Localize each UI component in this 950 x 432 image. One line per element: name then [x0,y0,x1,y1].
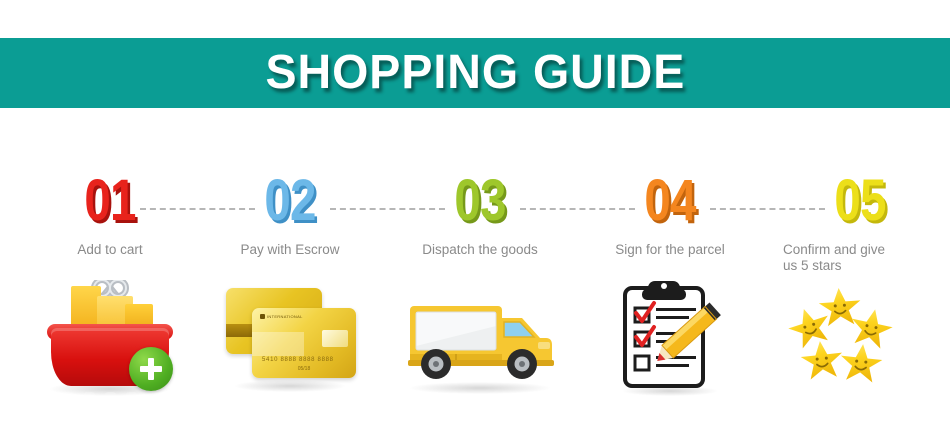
five-stars-svg [785,284,935,389]
step-5-label-line-1: Confirm and give [783,242,885,257]
header-band: SHOPPING GUIDE [0,38,950,108]
star-5 [839,342,884,383]
card-expiry: 05/18 [252,366,356,372]
step-5-label: Confirm and give us 5 stars [765,242,950,274]
step-1: 01 Add to cart [15,160,205,420]
star-2 [785,303,835,351]
step-2-number: 02 [212,172,368,230]
step-2: 02 Pay with Escrow INTERNATIONAL 5410 88… [195,160,385,420]
step-5-label-line-2: us 5 stars [783,258,842,273]
step-4-label: Sign for the parcel [575,242,765,258]
card-brand-text: INTERNATIONAL [267,314,303,319]
truck-svg [400,284,560,384]
shopping-guide-banner: SHOPPING GUIDE 01 Add to cart [0,0,950,432]
clipboard-svg [615,278,725,393]
step-3-number: 03 [402,172,558,230]
step-4: 04 Sign for the parcel [575,160,765,420]
step-3-label: Dispatch the goods [385,242,575,258]
card-number: 5410 8888 8888 8888 [262,357,356,363]
step-1-label: Add to cart [15,242,205,258]
step-2-label: Pay with Escrow [195,242,385,258]
page-title: SHOPPING GUIDE [265,49,685,97]
card-side-panel [252,332,304,356]
step-5: 05 Confirm and give us 5 stars [765,160,950,420]
steps-row: 01 Add to cart [0,160,950,420]
add-plus-icon [129,347,173,391]
card-hologram [322,330,348,347]
delivery-truck-icon [385,278,575,398]
step-5-number: 05 [782,172,938,230]
card-brand-label: INTERNATIONAL [260,314,303,319]
credit-cards-icon: INTERNATIONAL 5410 8888 8888 8888 05/18 [195,278,385,398]
star-3 [847,305,895,350]
step-4-number: 04 [592,172,748,230]
credit-card-front: INTERNATIONAL 5410 8888 8888 8888 05/18 [252,308,356,378]
clipboard-pencil-icon [575,278,765,398]
step-3: 03 Dispatch the goods [385,160,575,420]
five-stars-icon [765,278,950,398]
step-1-number: 01 [32,172,188,230]
shopping-basket-icon [15,278,205,398]
star-4 [799,339,844,380]
